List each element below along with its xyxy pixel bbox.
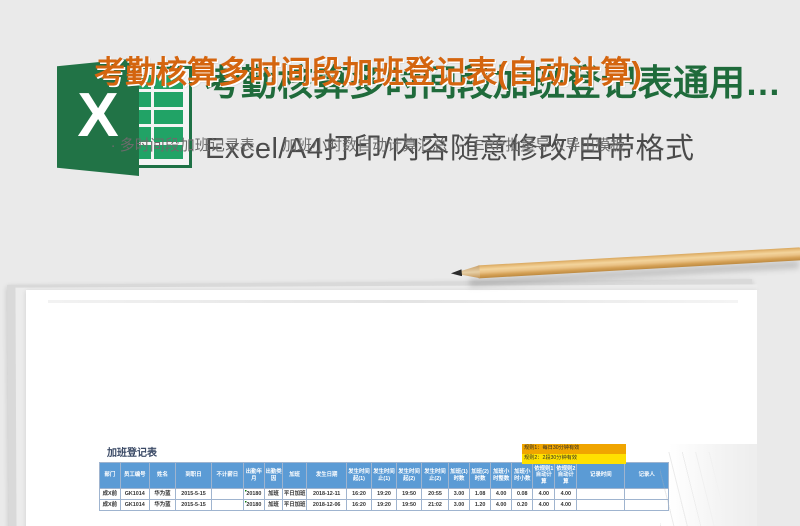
table-cell[interactable]: GK1014 [120, 489, 149, 500]
table-cell[interactable]: 4.00 [533, 489, 555, 500]
table-cell[interactable]: 16:20 [346, 500, 371, 511]
table-body: 成X前GK1014华为蓝2015-5-1520180加班平日加班2018-12-… [100, 489, 669, 511]
column-header[interactable]: 发生时间起(1) [346, 463, 371, 489]
table-header-row: 部门员工编号姓名到职日不计薪日出勤年月出勤类因加班发生日期发生时间起(1)发生时… [100, 463, 669, 489]
table-header: 部门员工编号姓名到职日不计薪日出勤年月出勤类因加班发生日期发生时间起(1)发生时… [100, 463, 669, 489]
header-band: X 考勤核算多时间段加班登记表通用… Excel/A4打印/内容随意修改/自带格… [0, 0, 800, 258]
table-cell[interactable]: 华为蓝 [149, 489, 175, 500]
table-cell[interactable]: 成X前 [100, 500, 121, 511]
feature-list: · 多时间段加班记录表 · 加班小时数自动计算汇总 · ERP批量导入导出模板 [38, 134, 698, 155]
column-header[interactable]: 出勤类因 [265, 463, 283, 489]
table-cell[interactable]: 2018-12-11 [307, 489, 347, 500]
column-header[interactable]: 记录时间 [577, 463, 625, 489]
column-header[interactable]: 员工编号 [120, 463, 149, 489]
table-cell[interactable]: 1.08 [470, 489, 491, 500]
column-header[interactable]: 依规则2自动计算 [555, 463, 577, 489]
table-cell[interactable]: 20:55 [422, 489, 449, 500]
table-cell[interactable]: 0.08 [512, 489, 533, 500]
feature-item-3: ERP批量导入导出模板 [475, 137, 626, 154]
column-header[interactable]: 加班小时小数 [512, 463, 533, 489]
table-cell[interactable]: 1.20 [470, 500, 491, 511]
column-header[interactable]: 姓名 [149, 463, 175, 489]
table-cell[interactable]: 3.00 [448, 489, 469, 500]
column-header[interactable]: 发生时间止(2) [422, 463, 449, 489]
table-cell[interactable]: 20180 [243, 500, 264, 511]
column-header[interactable]: 加班小时整数 [491, 463, 512, 489]
template-title: 考勤核算多时间段加班登记表(自动计算) [38, 47, 698, 92]
rule-1-text: 每日30分钟有效 [542, 445, 579, 451]
preview-right-fade [669, 444, 759, 526]
card-right-gutter [757, 290, 800, 526]
column-header[interactable]: 加班 [283, 463, 307, 489]
table-cell[interactable]: 2015-5-15 [176, 500, 212, 511]
column-header[interactable]: 加班(2)时数 [470, 463, 491, 489]
table-cell[interactable]: 平日加班 [283, 489, 307, 500]
table-cell[interactable] [577, 489, 625, 500]
column-header[interactable]: 部门 [100, 463, 121, 489]
table-cell[interactable]: 成X前 [100, 489, 121, 500]
column-header[interactable]: 依规则1自动计算 [533, 463, 555, 489]
table-cell[interactable]: 4.00 [555, 489, 577, 500]
column-header[interactable]: 加班(1)时数 [448, 463, 469, 489]
table-cell[interactable]: 加班 [265, 500, 283, 511]
table-cell[interactable]: 4.00 [533, 500, 555, 511]
column-header[interactable]: 不计薪日 [212, 463, 244, 489]
spreadsheet-preview: 加班登记表 规则1：每日30分钟有效 规则2：2段30分钟有效 部门员工编号姓名… [99, 444, 669, 526]
table-cell[interactable]: 0.20 [512, 500, 533, 511]
table-cell[interactable] [577, 500, 625, 511]
rule-2-text: 2段30分钟有效 [542, 455, 577, 461]
feature-bullet-icon: · [451, 137, 470, 154]
table-cell[interactable]: 16:20 [346, 489, 371, 500]
column-header[interactable]: 到职日 [176, 463, 212, 489]
table-cell[interactable]: 3.00 [448, 500, 469, 511]
feature-item-2: 加班小时数自动计算汇总 [282, 137, 447, 154]
column-header[interactable]: 发生时间止(1) [372, 463, 397, 489]
card-top-rule [48, 300, 738, 303]
table-cell[interactable]: 19:20 [372, 489, 397, 500]
feature-item-1: 多时间段加班记录表 [120, 137, 255, 154]
rule-line-1: 规则1：每日30分钟有效 [522, 444, 626, 454]
table-cell[interactable]: GK1014 [120, 500, 149, 511]
table-cell[interactable]: 4.00 [491, 500, 512, 511]
table-cell[interactable]: 20180 [243, 489, 264, 500]
table-cell[interactable] [212, 500, 244, 511]
overtime-table[interactable]: 部门员工编号姓名到职日不计薪日出勤年月出勤类因加班发生日期发生时间起(1)发生时… [99, 462, 669, 511]
column-header[interactable]: 出勤年月 [243, 463, 264, 489]
feature-bullet-icon: · [111, 137, 116, 154]
feature-bullet-icon: · [259, 137, 278, 154]
table-row[interactable]: 成X前GK1014华为蓝2015-5-1520180加班平日加班2018-12-… [100, 489, 669, 500]
column-header[interactable]: 发生时间起(2) [397, 463, 422, 489]
table-cell[interactable]: 2015-5-15 [176, 489, 212, 500]
table-cell[interactable]: 2018-12-06 [307, 500, 347, 511]
rules-note: 规则1：每日30分钟有效 规则2：2段30分钟有效 [522, 444, 626, 464]
table-cell[interactable]: 21:02 [422, 500, 449, 511]
column-header[interactable]: 发生日期 [307, 463, 347, 489]
rule-2-label: 规则2： [524, 455, 542, 461]
rule-1-label: 规则1： [524, 445, 542, 451]
table-cell[interactable]: 19:50 [397, 500, 422, 511]
table-cell[interactable] [212, 489, 244, 500]
table-cell[interactable]: 加班 [265, 489, 283, 500]
table-row[interactable]: 成X前GK1014华为蓝2015-5-1520180加班平日加班2018-12-… [100, 500, 669, 511]
table-cell[interactable]: 4.00 [555, 500, 577, 511]
table-cell[interactable]: 19:20 [372, 500, 397, 511]
table-cell[interactable]: 4.00 [491, 489, 512, 500]
table-cell[interactable]: 19:50 [397, 489, 422, 500]
preview-stage: X 考勤核算多时间段加班登记表通用… Excel/A4打印/内容随意修改/自带格… [0, 0, 800, 526]
rule-line-2: 规则2：2段30分钟有效 [522, 454, 626, 464]
table-cell[interactable]: 华为蓝 [149, 500, 175, 511]
table-cell[interactable]: 平日加班 [283, 500, 307, 511]
